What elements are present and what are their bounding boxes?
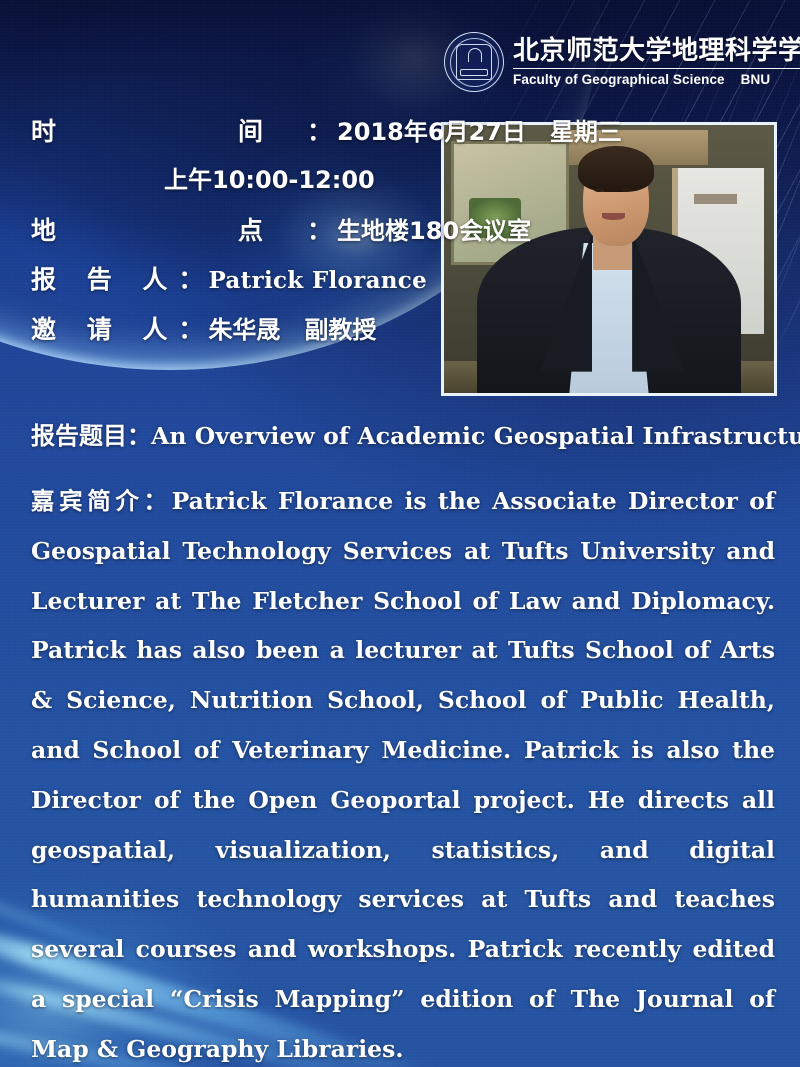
info-colon-speaker: ： <box>178 260 203 296</box>
info-value-time-date: 2018年6月27日 星期三 <box>337 113 622 151</box>
university-logo: 北京师范大学地理科学学部 Faculty of Geographical Sci… <box>444 26 778 98</box>
logo-chinese-name: 北京师范大学地理科学学部 <box>513 37 800 68</box>
info-row-host: 邀 请 人 ： 朱华晟 副教授 <box>31 310 431 349</box>
logo-text-block: 北京师范大学地理科学学部 Faculty of Geographical Sci… <box>513 37 800 86</box>
info-label-place: 地 点 <box>31 212 307 250</box>
info-value-speaker: Patrick Florance <box>208 262 427 300</box>
talk-title-text: An Overview of Academic Geospatial Infra… <box>151 422 800 450</box>
info-colon-time: ： <box>307 112 332 148</box>
poster-root: 北京师范大学地理科学学部 Faculty of Geographical Sci… <box>0 0 800 1067</box>
seal-inner-emblem <box>456 44 492 80</box>
info-row-place: 地 点 ： 生地楼180会议室 <box>31 211 431 250</box>
info-value-place: 生地楼180会议室 <box>337 212 531 250</box>
info-value-time-range: 上午10:00-12:00 <box>164 161 375 199</box>
info-label-speaker: 报 告 人 <box>31 261 178 299</box>
logo-english-block: Faculty of Geographical Science BNU <box>513 72 800 87</box>
photo-person-mouth <box>602 213 625 219</box>
info-label-host: 邀 请 人 <box>31 311 178 349</box>
talk-title-line: 报告题目：An Overview of Academic Geospatial … <box>31 416 776 451</box>
bio-label: 嘉宾简介： <box>31 487 172 515</box>
photo-person-hair <box>578 146 654 192</box>
info-row-time-second-line: 上午10:00-12:00 <box>164 161 431 199</box>
logo-abbreviation: BNU <box>741 72 771 87</box>
info-value-host: 朱华晟 副教授 <box>208 311 376 349</box>
talk-title-label: 报告题目： <box>31 422 151 450</box>
info-row-speaker: 报 告 人 ： Patrick Florance <box>31 260 431 300</box>
bio-text: Patrick Florance is the Associate Direct… <box>31 487 775 1063</box>
event-info-block: 时 间 ： 2018年6月27日 星期三 上午10:00-12:00 地 点 ：… <box>31 112 431 359</box>
info-colon-host: ： <box>178 310 203 346</box>
logo-english-name: Faculty of Geographical Science <box>513 72 725 87</box>
info-colon-place: ： <box>307 211 332 247</box>
bnu-seal-icon <box>444 32 504 92</box>
speaker-bio: 嘉宾简介：Patrick Florance is the Associate D… <box>31 477 775 1067</box>
info-row-time: 时 间 ： 2018年6月27日 星期三 <box>31 112 431 151</box>
info-label-time: 时 间 <box>31 113 307 151</box>
speaker-photo <box>441 122 777 396</box>
